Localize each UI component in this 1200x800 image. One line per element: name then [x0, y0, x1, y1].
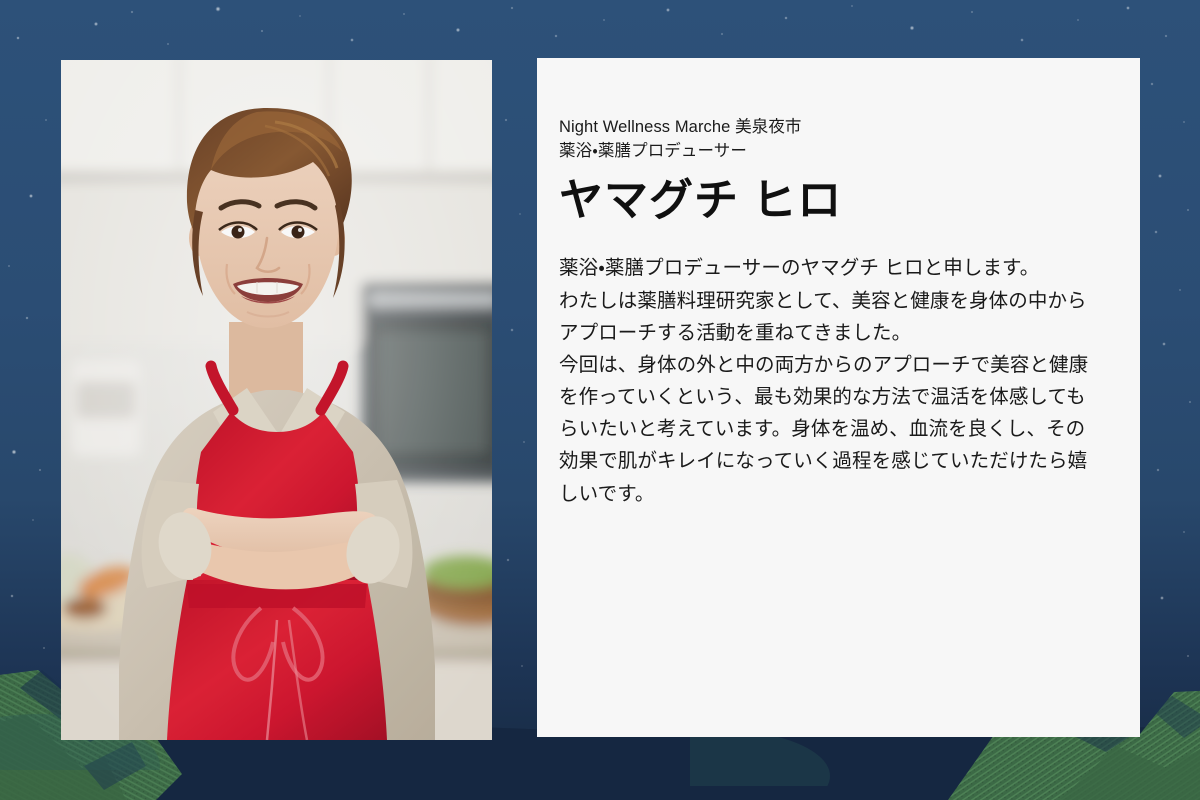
profile-eyebrow: Night Wellness Marche 美泉夜市 薬浴・薬膳プロデューサー [559, 116, 1090, 164]
page-title: ヤマグチ ヒロ [559, 176, 1090, 227]
profile-bio: 薬浴・薬膳プロデューサーのヤマグチ ヒロと申します。 わたしは薬膳料理研究家とし… [559, 252, 1090, 509]
profile-info-card: Night Wellness Marche 美泉夜市 薬浴・薬膳プロデューサー … [537, 58, 1140, 737]
night-ground-band [0, 730, 1200, 800]
profile-banner: Night Wellness Marche 美泉夜市 薬浴・薬膳プロデューサー … [0, 0, 1200, 800]
profile-photo [61, 60, 492, 740]
